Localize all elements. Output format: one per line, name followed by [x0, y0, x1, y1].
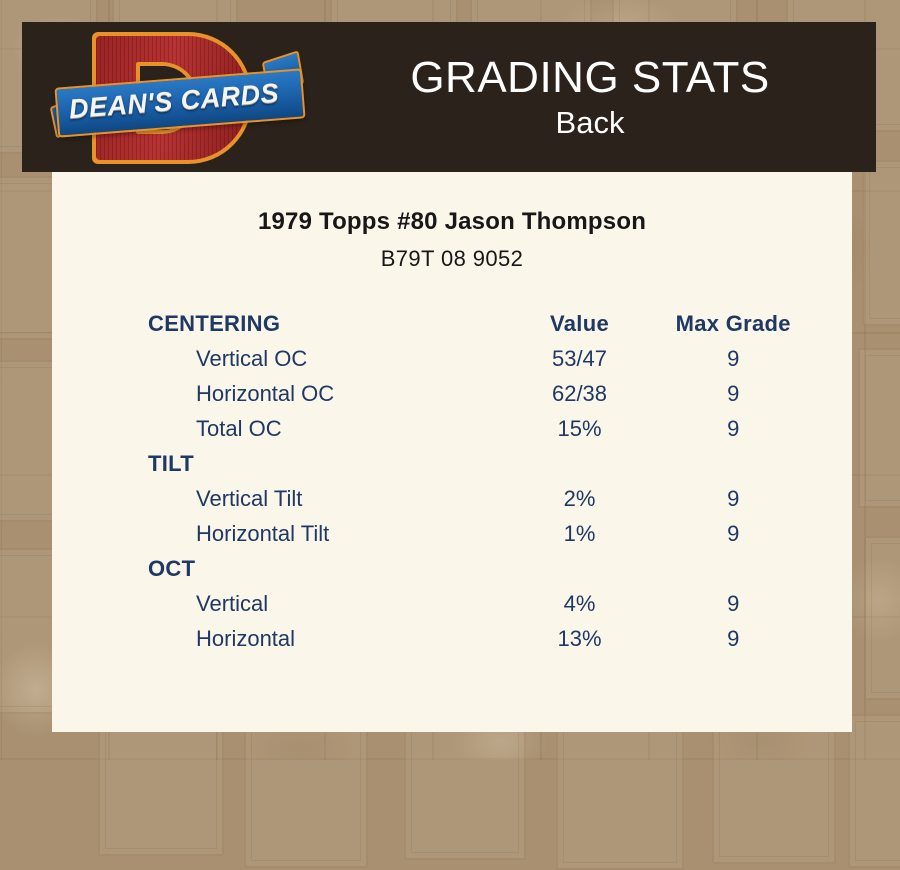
stat-label: Vertical OC: [148, 341, 501, 376]
section-title: CENTERING: [148, 306, 501, 341]
stat-value: 1%: [501, 516, 659, 551]
card-serial-number: B79T 08 9052: [52, 246, 852, 272]
grading-stats-table: CENTERINGValueMax GradeVertical OC53/479…: [148, 306, 808, 656]
table-row: Vertical Tilt2%9: [148, 481, 808, 516]
spacer-cell: [501, 551, 659, 586]
stat-max-grade: 9: [658, 411, 808, 446]
header-bar: DEAN'S CARDS GRADING STATS Back: [22, 22, 876, 172]
stat-label: Horizontal OC: [148, 376, 501, 411]
stat-label: Vertical Tilt: [148, 481, 501, 516]
stat-max-grade: 9: [658, 341, 808, 376]
spacer-cell: [501, 446, 659, 481]
content-panel: 1979 Topps #80 Jason Thompson B79T 08 90…: [52, 172, 852, 732]
stat-max-grade: 9: [658, 586, 808, 621]
stat-value: 53/47: [501, 341, 659, 376]
stat-value: 62/38: [501, 376, 659, 411]
stat-label: Total OC: [148, 411, 501, 446]
table-row: Horizontal Tilt1%9: [148, 516, 808, 551]
table-row: Vertical4%9: [148, 586, 808, 621]
stat-value: 13%: [501, 621, 659, 656]
deans-cards-logo[interactable]: DEAN'S CARDS: [52, 26, 304, 168]
stat-value: 4%: [501, 586, 659, 621]
logo-ribbon-banner: DEAN'S CARDS: [52, 72, 304, 134]
stat-max-grade: 9: [658, 621, 808, 656]
stat-label: Horizontal: [148, 621, 501, 656]
card-title: 1979 Topps #80 Jason Thompson: [52, 208, 852, 236]
spacer-cell: [658, 551, 808, 586]
page-title: GRADING STATS: [410, 55, 769, 101]
stat-value: 15%: [501, 411, 659, 446]
column-header-value: Value: [501, 306, 659, 341]
stat-max-grade: 9: [658, 516, 808, 551]
stat-max-grade: 9: [658, 481, 808, 516]
section-title: TILT: [148, 446, 501, 481]
stat-label: Vertical: [148, 586, 501, 621]
section-header-row: OCT: [148, 551, 808, 586]
grading-stats-body: CENTERINGValueMax GradeVertical OC53/479…: [148, 306, 808, 656]
section-header-row: CENTERINGValueMax Grade: [148, 306, 808, 341]
stat-max-grade: 9: [658, 376, 808, 411]
page-subtitle: Back: [556, 107, 625, 140]
column-header-max-grade: Max Grade: [658, 306, 808, 341]
stat-value: 2%: [501, 481, 659, 516]
table-row: Horizontal OC62/389: [148, 376, 808, 411]
stat-label: Horizontal Tilt: [148, 516, 501, 551]
table-row: Total OC15%9: [148, 411, 808, 446]
section-header-row: TILT: [148, 446, 808, 481]
table-row: Horizontal13%9: [148, 621, 808, 656]
header-title-block: GRADING STATS Back: [304, 22, 876, 172]
spacer-cell: [658, 446, 808, 481]
table-row: Vertical OC53/479: [148, 341, 808, 376]
section-title: OCT: [148, 551, 501, 586]
